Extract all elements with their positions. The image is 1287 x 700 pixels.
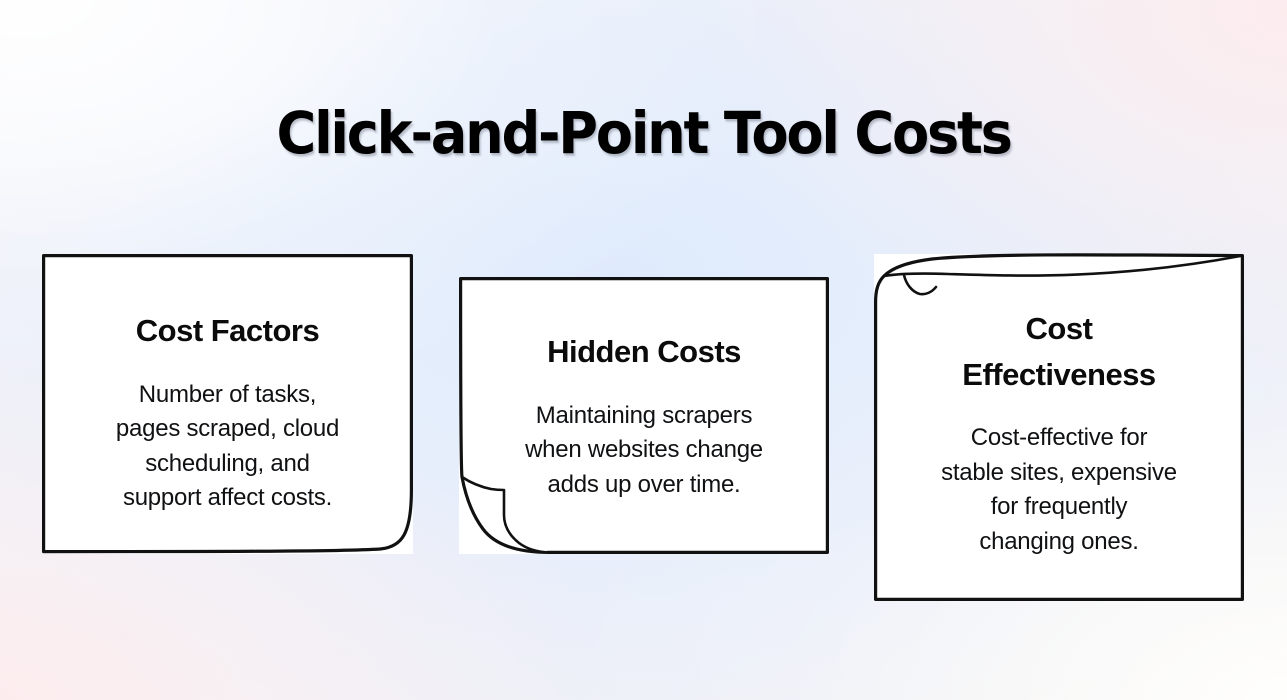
card-cost-effectiveness-text: Cost-effective for stable sites, expensi… (896, 421, 1222, 559)
card-hidden-costs-text: Maintaining scrapers when websites chang… (477, 399, 811, 503)
card-hidden-costs: Hidden Costs Maintaining scrapers when w… (459, 277, 829, 554)
card-hidden-costs-body: Hidden Costs Maintaining scrapers when w… (459, 329, 829, 502)
page-title: Click-and-Point Tool Costs (276, 103, 1010, 164)
card-hidden-costs-title: Hidden Costs (477, 329, 811, 375)
card-cost-factors-body: Cost Factors Number of tasks, pages scra… (42, 308, 413, 516)
card-cost-effectiveness: Cost Effectiveness Cost-effective for st… (874, 254, 1244, 601)
card-cost-factors-text: Number of tasks, pages scraped, cloud sc… (64, 378, 391, 516)
card-cost-factors: Cost Factors Number of tasks, pages scra… (42, 254, 413, 554)
card-cost-effectiveness-body: Cost Effectiveness Cost-effective for st… (874, 306, 1244, 559)
slide-canvas: Click-and-Point Tool Costs Cost Factors … (0, 0, 1287, 700)
title-container: Click-and-Point Tool Costs (0, 64, 1287, 203)
card-cost-factors-title: Cost Factors (64, 308, 391, 354)
card-cost-effectiveness-title: Cost Effectiveness (896, 306, 1222, 397)
